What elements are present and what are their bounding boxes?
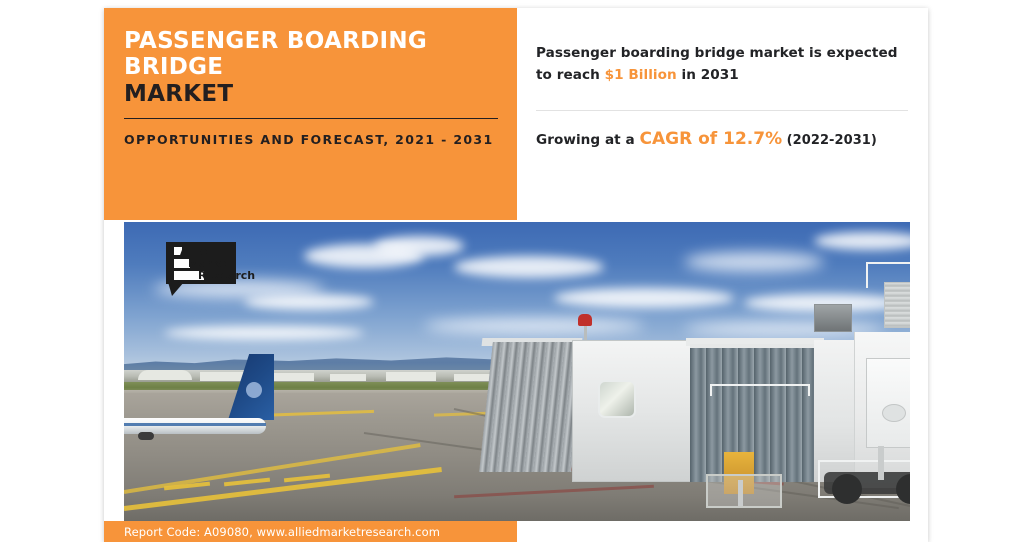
jetbridge-bellows xyxy=(690,344,818,482)
aircraft-stripe xyxy=(124,423,266,426)
title-line-2: BRIDGE xyxy=(124,54,502,80)
cloud-icon xyxy=(374,236,464,256)
jetbridge-cab-window xyxy=(598,380,636,418)
bogie-wheel xyxy=(832,474,862,504)
jetbridge-tunnel xyxy=(479,342,585,472)
hero-photo: Allied Market Research xyxy=(124,222,910,521)
air-conditioning-unit xyxy=(884,282,910,328)
stat-cagr-prefix: Growing at a xyxy=(536,132,640,148)
title-divider xyxy=(124,118,498,119)
stat-highlight-cagr: Growing at a CAGR of 12.7% (2022-2031) xyxy=(536,128,916,152)
stat-market-size-value: $1 Billion xyxy=(605,67,677,83)
allied-market-research-logo: Allied Market Research xyxy=(144,240,236,296)
stat-cagr-value: CAGR of 12.7% xyxy=(640,129,783,149)
stat-line-cagr: Growing at a CAGR of 12.7% (2022-2031) xyxy=(536,128,916,152)
airline-livery-mark xyxy=(246,382,262,398)
title-line-3: MARKET xyxy=(124,81,502,107)
cloud-icon xyxy=(454,256,604,278)
warning-beacon-icon xyxy=(578,314,592,326)
logo-word-market: Market xyxy=(188,258,232,269)
report-title: PASSENGER BOARDING BRIDGE MARKET xyxy=(124,28,502,107)
report-subtitle: OPPORTUNITIES AND FORECAST, 2021 - 2031 xyxy=(124,130,504,149)
stat-market-size-suffix: in 2031 xyxy=(677,67,739,83)
logo-bubble-tail xyxy=(168,282,184,296)
cloud-icon xyxy=(684,252,824,272)
terminal-door xyxy=(866,358,910,448)
stat-cagr-period: (2022-2031) xyxy=(782,133,877,148)
report-infographic: PASSENGER BOARDING BRIDGE MARKET OPPORTU… xyxy=(0,0,1036,542)
rooftop-unit-icon xyxy=(814,304,852,332)
cloud-icon xyxy=(424,318,644,334)
bellows-railing xyxy=(710,384,810,396)
cloud-icon xyxy=(244,294,374,310)
ground-equipment-cart xyxy=(706,474,782,508)
footer-report-code: Report Code: A09080, www.alliedmarketres… xyxy=(124,525,440,539)
cloud-icon xyxy=(554,288,734,308)
support-leg xyxy=(738,480,743,506)
logo-word-research: Research xyxy=(198,270,255,281)
title-line-1: PASSENGER BOARDING xyxy=(124,28,502,54)
support-leg xyxy=(878,446,884,480)
aircraft-landing-gear xyxy=(138,432,154,440)
stat-highlight-market-size: Passenger boarding bridge market is expe… xyxy=(536,42,912,86)
stats-divider xyxy=(536,110,908,111)
stat-line-market-size: Passenger boarding bridge market is expe… xyxy=(536,42,912,86)
roof-railing xyxy=(866,262,910,288)
orange-header-panel: PASSENGER BOARDING BRIDGE MARKET xyxy=(104,8,517,220)
porthole-icon xyxy=(882,404,906,422)
logo-word-allied: Allied xyxy=(180,246,215,257)
cloud-icon xyxy=(164,326,364,340)
